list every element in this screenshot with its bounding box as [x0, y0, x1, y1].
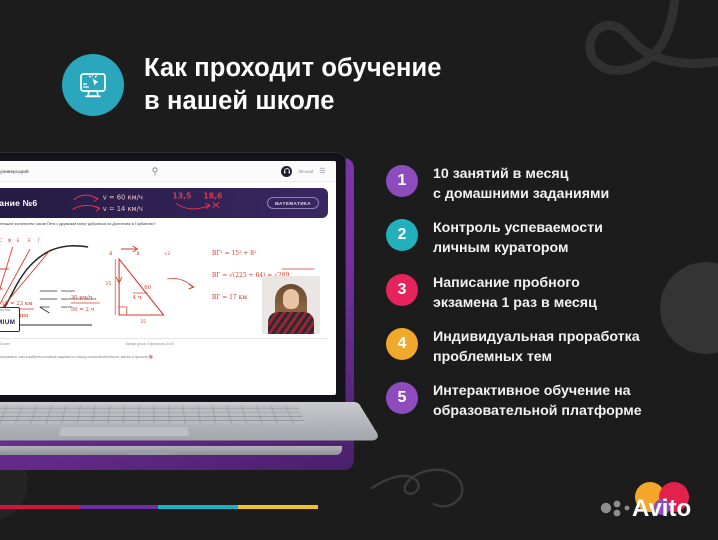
list-item: 2 Контроль успеваемости личным куратором	[386, 217, 686, 258]
feature-number-badge: 5	[386, 382, 418, 414]
loop-decoration-icon	[558, 0, 718, 132]
laptop-trackpad[interactable]	[58, 426, 190, 436]
browser-toolbar: ▲ Предуниверсарий ⚲	[0, 161, 336, 182]
feature-number-badge: 1	[386, 165, 418, 197]
avito-wordmark: Avito	[632, 495, 691, 522]
handwriting-scribbles: v = 60 км/ч v = 14 км/ч 13,5 18,6	[68, 188, 242, 217]
svg-text:15: 15	[140, 319, 146, 325]
lesson-meta: Длительность: 60 мин Время урока: 5 февр…	[0, 338, 327, 346]
premium-badge-top: МАСТЕР-ГРУППА	[0, 310, 15, 312]
svg-text:18,6: 18,6	[203, 192, 222, 201]
search-icon[interactable]: ⚲	[152, 166, 159, 177]
avito-logo: Avito	[600, 480, 704, 526]
avito-dot-3	[614, 510, 621, 517]
laptop-base-top	[0, 402, 382, 441]
feature-text: Контроль успеваемости личным куратором	[433, 217, 603, 258]
task-question: За какое наименьшее количество часов Пет…	[0, 222, 327, 227]
laptop-lid: ▲ Предуниверсарий ⚲	[0, 152, 346, 405]
svg-text:8: 8	[136, 251, 139, 257]
lesson-duration: Длительность: 60 мин	[0, 342, 10, 346]
svg-text:Б: Б	[17, 238, 20, 243]
photo-body	[268, 312, 314, 334]
squiggle-decoration-icon	[368, 466, 508, 512]
svg-text:50 = 2 ч: 50 = 2 ч	[71, 307, 95, 313]
menu-icon[interactable]: ☰	[319, 167, 326, 175]
avito-dot-4	[625, 506, 630, 511]
list-item: 3 Написание пробного экзамена 1 раз в ме…	[386, 272, 686, 313]
laptop-keyboard[interactable]	[0, 405, 306, 424]
subject-chip: МАТЕМАТИКА	[267, 197, 319, 209]
feature-number-badge: 2	[386, 219, 418, 251]
task-title: Задание №6	[0, 198, 37, 208]
svg-text:С: С	[0, 238, 2, 243]
svg-text:ВГ = 17 км: ВГ = 17 км	[212, 294, 247, 301]
feature-text: 10 занятий в месяц с домашними заданиями	[433, 163, 609, 204]
student-video-thumbnail	[262, 276, 320, 334]
header: Как проходит обучение в нашей школе	[62, 52, 442, 117]
premium-badge: МАСТЕР-ГРУППА PREMIUM	[0, 307, 20, 332]
feature-text: Написание пробного экзамена 1 раз в меся…	[433, 272, 597, 313]
list-item: 5 Интерактивное обучение на образователь…	[386, 380, 686, 421]
laptop-base	[0, 402, 358, 468]
list-item: 4 Индивидуальная проработка проблемных т…	[386, 326, 686, 367]
svg-text:ВГ² = 15² + 8²: ВГ² = 15² + 8²	[212, 250, 257, 257]
browser-account-area: Личный ☰	[281, 166, 326, 177]
laptop-mockup: ▲ Предуниверсарий ⚲	[0, 152, 356, 472]
headphones-avatar-icon[interactable]	[281, 166, 292, 177]
svg-text:Г: Г	[38, 238, 41, 243]
feature-text: Интерактивное обучение на образовательно…	[433, 380, 642, 421]
svg-text:60: 60	[144, 285, 151, 291]
svg-text:v = 60 км/ч: v = 60 км/ч	[103, 194, 143, 202]
monitor-cursor-icon	[62, 54, 124, 116]
lesson-deadline: Время урока: 5 февраля 16:00	[126, 342, 174, 346]
slide-root: Как проходит обучение в нашей школе 1 10…	[0, 0, 718, 540]
svg-text:+2: +2	[164, 251, 171, 257]
svg-text:v = 14 км/ч: v = 14 км/ч	[103, 205, 143, 213]
svg-text:Е: Е	[28, 238, 31, 243]
accent-color-bar	[0, 505, 358, 509]
whiteboard: ДС ФБ ЕГ ВА пешком проселочная дорога	[0, 229, 328, 334]
color-bar-segment-teal	[158, 505, 238, 509]
svg-text:4 ч: 4 ч	[133, 295, 142, 301]
laptop-screen: ▲ Предуниверсарий ⚲	[0, 161, 336, 395]
avito-dot-2	[614, 501, 621, 508]
feature-text: Индивидуальная проработка проблемных тем	[433, 326, 640, 367]
svg-text:пешком: пешком	[61, 289, 75, 293]
premium-badge-main: PREMIUM	[0, 319, 15, 326]
laptop-base-notch	[126, 450, 170, 455]
svg-text:S₁ = 15 = 23 км: S₁ = 15 = 23 км	[0, 301, 33, 307]
photo-face	[283, 289, 299, 309]
color-bar-segment-crimson	[0, 505, 80, 509]
page-title: Как проходит обучение в нашей школе	[144, 52, 442, 117]
lesson-footer-note: В сборе мы не испугаемся, зато разберем …	[0, 355, 327, 360]
list-item: 1 10 занятий в месяц с домашними задания…	[386, 163, 686, 204]
task-banner: Задание №6 v = 60 км/ч v = 14 км/ч	[0, 188, 328, 218]
site-logo[interactable]: ▲ Предуниверсарий	[0, 167, 29, 176]
svg-text:15: 15	[106, 281, 112, 287]
feature-list: 1 10 занятий в месяц с домашними задания…	[386, 163, 686, 422]
feature-number-badge: 4	[386, 328, 418, 360]
laptop-base-front	[0, 446, 342, 455]
feature-number-badge: 3	[386, 274, 418, 306]
svg-text:Ф: Ф	[8, 238, 12, 243]
account-label: Личный	[298, 169, 313, 174]
svg-text:30 км/ч: 30 км/ч	[71, 295, 93, 301]
avito-dot-1	[601, 503, 611, 513]
site-logo-label: Предуниверсарий	[0, 169, 29, 174]
color-bar-segment-yellow	[238, 505, 318, 509]
svg-text:В: В	[109, 251, 112, 257]
color-bar-segment-purple	[80, 505, 158, 509]
svg-text:13,5: 13,5	[172, 192, 191, 201]
